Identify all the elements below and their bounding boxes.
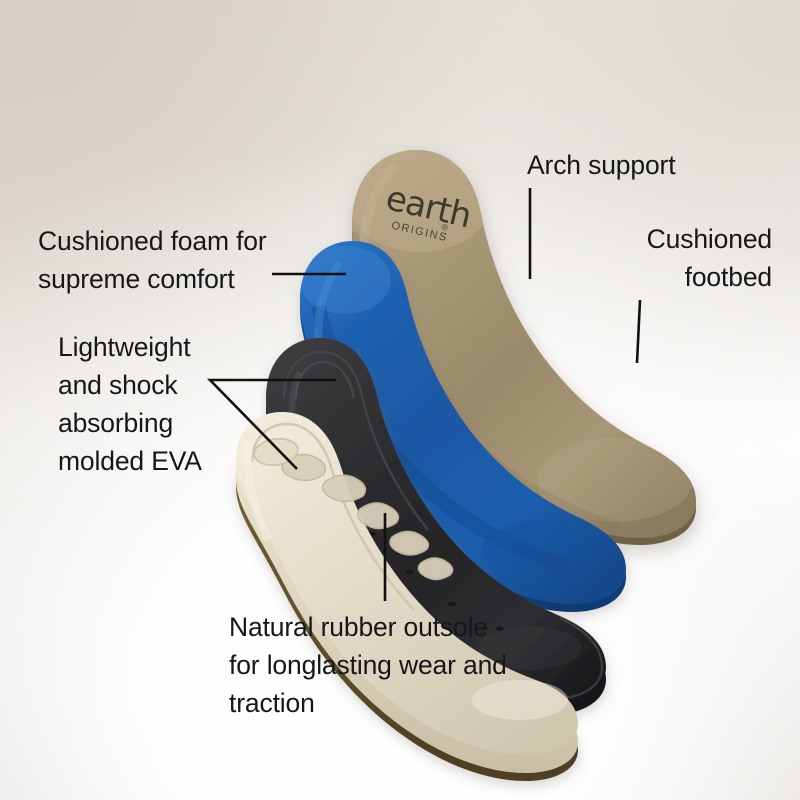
callout-molded-eva: Lightweight and shock absorbing molded E… (58, 328, 238, 480)
callout-cushioned-foam: Cushioned foam for supreme comfort (38, 222, 288, 298)
insole-infographic: earth ORIGINS ® (0, 0, 800, 800)
callout-arch-support: Arch support (527, 146, 675, 184)
callout-cushioned-footbed: Cushioned footbed (500, 220, 772, 296)
callout-rubber-outsole: Natural rubber outsole for longlasting w… (229, 608, 559, 722)
